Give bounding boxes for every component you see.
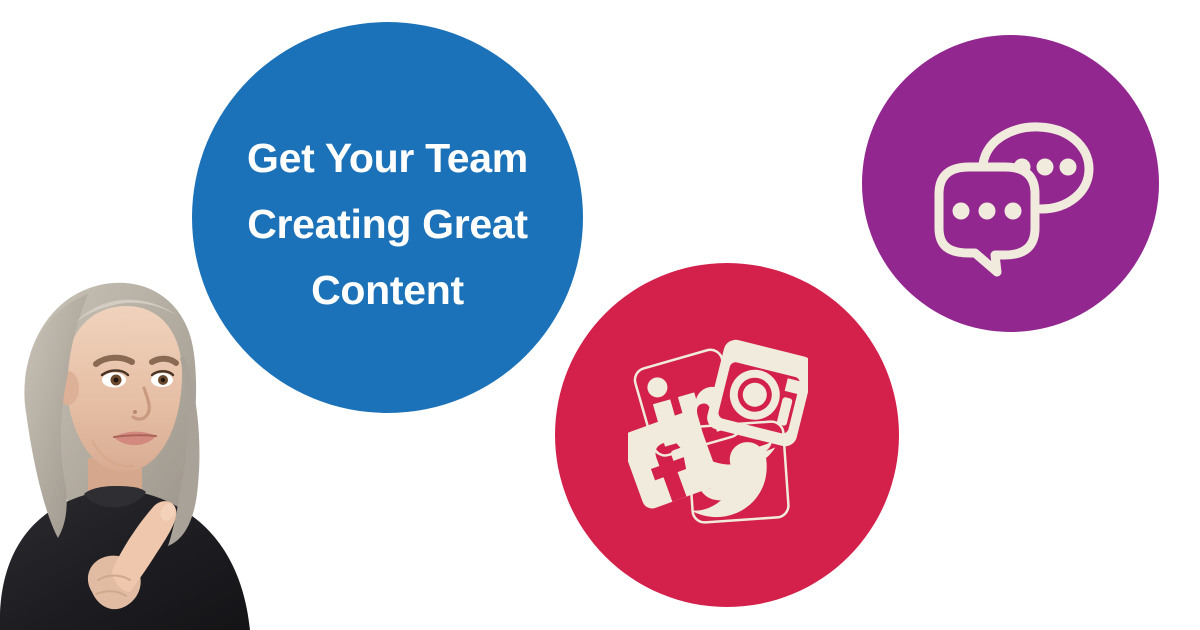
- chat-bubbles-icon: [925, 122, 1105, 277]
- social-media-cards-icon: [628, 338, 808, 524]
- ellipsis-dots-left: [953, 203, 1022, 220]
- social-banner: Get Your Team Creating Great Content: [0, 0, 1200, 630]
- presenter-photo: [0, 262, 322, 630]
